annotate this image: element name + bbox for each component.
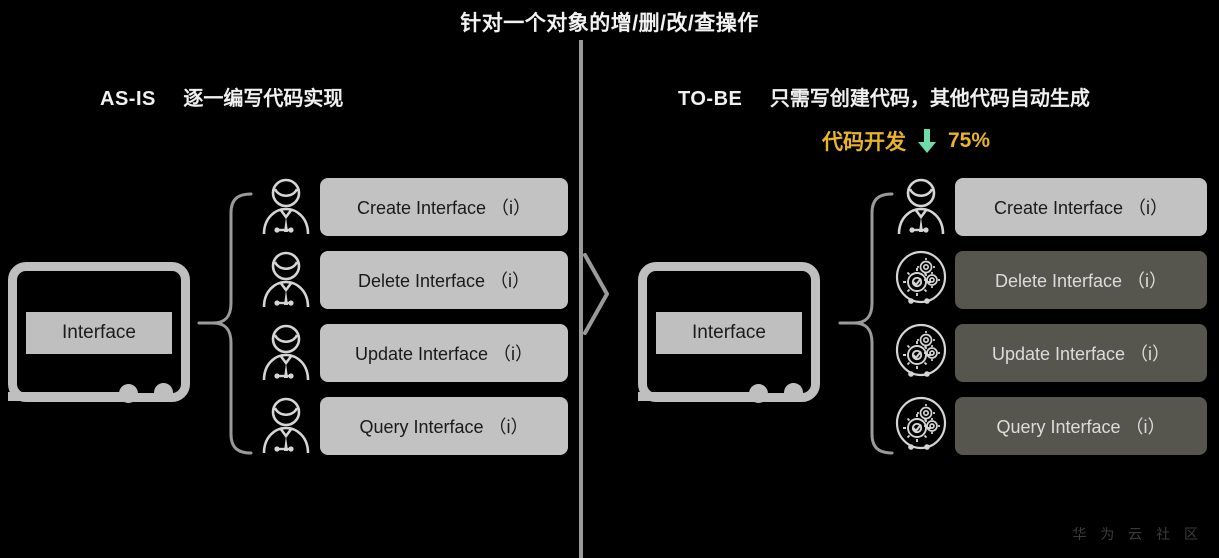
operation-label: Query Interface （i） — [320, 397, 568, 455]
page-title: 针对一个对象的增/删/改/查操作 — [0, 7, 1219, 37]
interface-dot-left — [119, 384, 138, 403]
as-is-tag: AS-IS — [100, 88, 156, 110]
to-be-subtitle: 只需写创建代码，其他代码自动生成 — [770, 88, 1090, 110]
operation-label: Create Interface （i） — [320, 178, 568, 236]
developer-person-icon — [893, 176, 949, 238]
operation-label: Update Interface （i） — [320, 324, 568, 382]
to-be-header: TO-BE 只需写创建代码，其他代码自动生成 — [678, 82, 1090, 111]
auto-gears-icon — [893, 249, 949, 311]
interface-dot-left — [749, 384, 768, 403]
developer-person-icon — [258, 322, 314, 384]
brace-connector-right — [838, 191, 894, 456]
list-item[interactable]: Create Interface （i） — [893, 178, 1207, 236]
operation-label: Delete Interface （i） — [955, 251, 1207, 309]
interface-node-right: Interface — [638, 262, 820, 402]
to-be-tag: TO-BE — [678, 88, 742, 110]
list-item[interactable]: Delete Interface （i） — [258, 251, 568, 309]
list-item[interactable]: Create Interface （i） — [258, 178, 568, 236]
interface-dot-right — [784, 383, 803, 402]
operation-label: Delete Interface （i） — [320, 251, 568, 309]
developer-person-icon — [258, 395, 314, 457]
auto-gears-icon — [893, 395, 949, 457]
list-item[interactable]: Update Interface （i） — [893, 324, 1207, 382]
as-is-header: AS-IS 逐一编写代码实现 — [100, 82, 343, 111]
interface-node-label: Interface — [656, 312, 802, 354]
auto-gears-icon — [893, 322, 949, 384]
developer-person-icon — [258, 249, 314, 311]
diagram-canvas: 针对一个对象的增/删/改/查操作 AS-IS 逐一编写代码实现 TO-BE 只需… — [0, 0, 1219, 558]
interface-node-left: Interface — [8, 262, 190, 402]
code-dev-reduction-stat: 代码开发 75% — [822, 126, 990, 156]
operation-label: Update Interface （i） — [955, 324, 1207, 382]
list-item[interactable]: Update Interface （i） — [258, 324, 568, 382]
list-item[interactable]: Query Interface （i） — [893, 397, 1207, 455]
down-arrow-icon — [916, 128, 938, 154]
developer-person-icon — [258, 176, 314, 238]
interface-stem — [8, 392, 130, 401]
as-is-subtitle: 逐一编写代码实现 — [183, 88, 343, 110]
brace-connector-left — [197, 191, 253, 456]
to-be-operation-list: Create Interface （i） — [893, 178, 1207, 455]
operation-label: Query Interface （i） — [955, 397, 1207, 455]
list-item[interactable]: Query Interface （i） — [258, 397, 568, 455]
as-is-operation-list: Create Interface （i） Delete Interface （i… — [258, 178, 568, 455]
operation-label: Create Interface （i） — [955, 178, 1207, 236]
chevron-right-icon — [583, 253, 609, 335]
interface-node-label: Interface — [26, 312, 172, 354]
list-item[interactable]: Delete Interface （i） — [893, 251, 1207, 309]
watermark: 华 为 云 社 区 — [1072, 524, 1203, 544]
interface-stem — [638, 392, 760, 401]
stat-label: 代码开发 — [822, 126, 906, 156]
stat-value: 75% — [948, 129, 990, 153]
interface-dot-right — [154, 383, 173, 402]
